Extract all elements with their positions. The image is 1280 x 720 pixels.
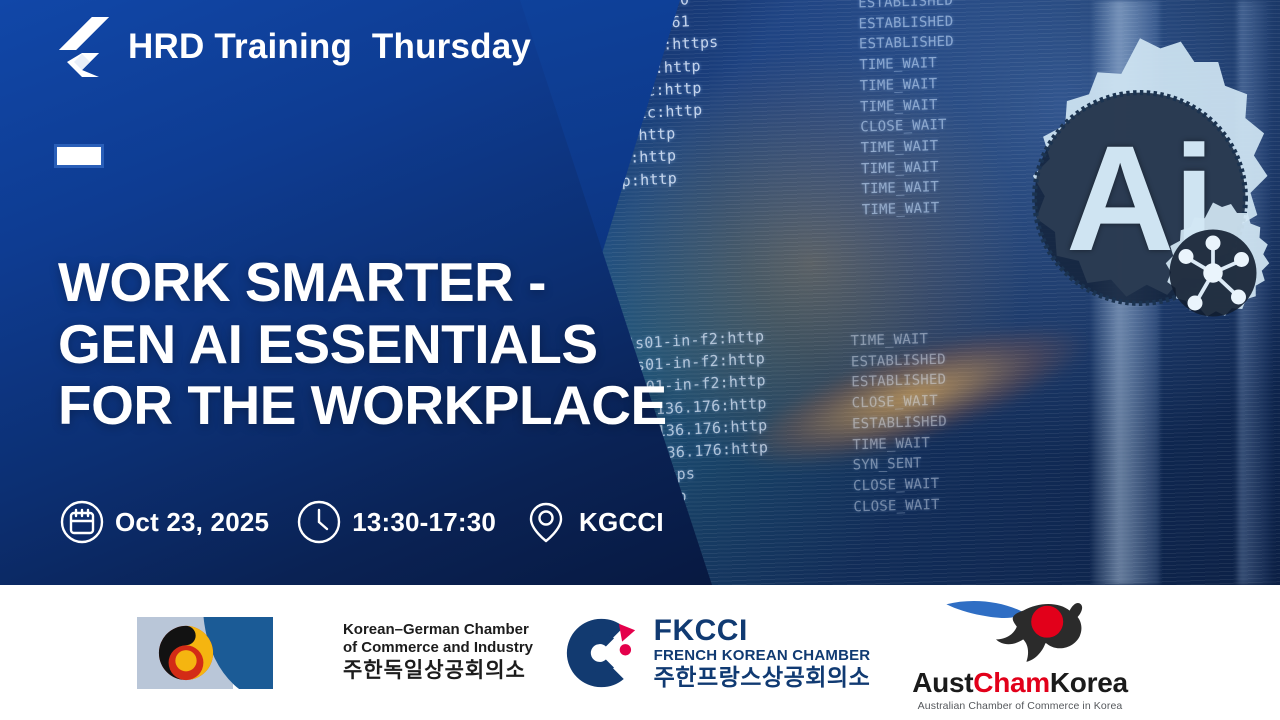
ahk-korean-name: 주한독일상공회의소: [343, 659, 533, 684]
code-text-hosts: na1r:49770 na1r:49761 suggest:https stat…: [597, 0, 724, 193]
flutter-chevron-icon: [58, 16, 110, 78]
austcham-name-part-2: Cham: [973, 667, 1050, 699]
gear-bar-chart-icon: [1275, 448, 1280, 585]
ahk-en-line-2: of Commerce and Industry: [343, 639, 533, 657]
headline: WORK SMARTER - GEN AI ESSENTIALS FOR THE…: [58, 252, 667, 437]
kangaroo-icon: [940, 593, 1100, 665]
austcham-name: AustChamKorea: [912, 667, 1128, 699]
logo-fkcci: FKCCI FRENCH KOREAN CHAMBER 주한프랑스상공회의소: [550, 614, 880, 692]
fkcci-subtitle: FRENCH KOREAN CHAMBER: [654, 648, 871, 665]
fkcci-c-icon: [560, 614, 642, 692]
austcham-subtitle: Australian Chamber of Commerce in Korea: [918, 700, 1123, 712]
calendar-icon: [60, 500, 104, 544]
event-time: 13:30-17:30: [297, 500, 496, 544]
event-details-row: Oct 23, 2025 13:30-17:30 KGCCI: [60, 500, 664, 544]
event-date: Oct 23, 2025: [60, 500, 269, 544]
headline-line-1: WORK SMARTER -: [58, 252, 667, 314]
partner-logo-strip: AHK Korean–German Chamber of Commerce an…: [0, 585, 1280, 720]
code-text-states: ESTABLISHED ESTABLISHED ESTABLISHED TIME…: [858, 0, 957, 221]
event-date-text: Oct 23, 2025: [115, 507, 269, 538]
headline-line-2: GEN AI ESSENTIALS: [58, 314, 667, 376]
event-time-text: 13:30-17:30: [352, 507, 496, 538]
location-pin-icon: [524, 500, 568, 544]
code-text-states-2: TIME_WAIT ESTABLISHED ESTABLISHED CLOSE_…: [850, 329, 948, 518]
fkcci-name: FKCCI: [654, 614, 871, 648]
fkcci-korean-name: 주한프랑스상공회의소: [654, 665, 871, 691]
fkcci-text-block: FKCCI FRENCH KOREAN CHAMBER 주한프랑스상공회의소: [654, 614, 871, 691]
ahk-en-line-1: Korean–German Chamber: [343, 621, 533, 639]
austcham-name-part-3: Korea: [1050, 667, 1128, 699]
ahk-text-block: Korean–German Chamber of Commerce and In…: [343, 621, 533, 683]
clock-icon: [297, 500, 341, 544]
brand-row: HRD Training Thursday: [58, 16, 531, 78]
ahk-logo-block: AHK: [137, 617, 329, 689]
ahk-swirl-icon: [157, 624, 215, 682]
brand-title: HRD Training Thursday: [128, 27, 531, 67]
headline-line-3: FOR THE WORKPLACE: [58, 375, 667, 437]
gear-network-icon: [1138, 198, 1280, 348]
event-location: KGCCI: [524, 500, 664, 544]
logo-austcham-korea: AustChamKorea Australian Chamber of Comm…: [880, 593, 1160, 712]
logo-ahk: AHK Korean–German Chamber of Commerce an…: [120, 617, 550, 689]
event-location-text: KGCCI: [579, 507, 664, 538]
event-banner: 300 :49171 49172 9173 176 81 2 na1r:4977…: [0, 0, 1280, 720]
hero-section: 300 :49171 49172 9173 176 81 2 na1r:4977…: [0, 0, 1280, 585]
austcham-name-part-1: Aust: [912, 667, 973, 699]
course-level-badge: [54, 144, 104, 168]
